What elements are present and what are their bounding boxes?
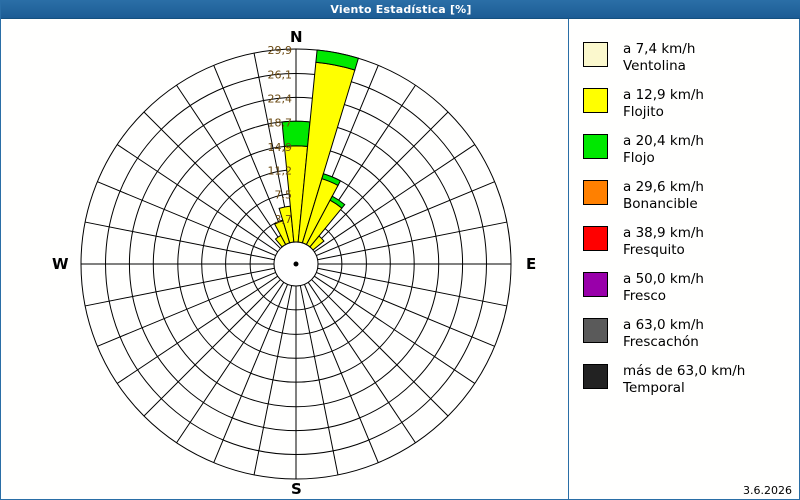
windrose-plot-panel: 3,77,511,214,918,722,426,129,9 N E S W [2, 19, 566, 499]
centre-hole [274, 242, 318, 286]
legend-item[interactable]: a 38,9 km/hFresquito [583, 225, 704, 259]
grid-spoke-7 [318, 222, 507, 260]
legend-item-text: a 29,6 km/hBonancible [623, 179, 704, 213]
legend-item-text: a 50,0 km/hFresco [623, 271, 704, 305]
legend-color-swatch [583, 364, 608, 389]
legend-item-name: Flojo [623, 150, 704, 167]
centre-dot [294, 262, 299, 267]
legend-item[interactable]: a 12,9 km/hFlojito [583, 87, 704, 121]
radial-tick-label-6: 26,1 [268, 69, 293, 82]
legend-panel: a 7,4 km/hVentolinaa 12,9 km/hFlojitoa 2… [568, 19, 799, 499]
legend-item-name: Frescachón [623, 334, 704, 351]
legend-item[interactable]: a 20,4 km/hFlojo [583, 133, 704, 167]
legend-item-speed: a 29,6 km/h [623, 179, 704, 195]
legend-item[interactable]: a 63,0 km/hFrescachón [583, 317, 704, 351]
legend-color-swatch [583, 272, 608, 297]
legend-item-speed: a 20,4 km/h [623, 133, 704, 149]
compass-label-north: N [290, 30, 303, 45]
grid-spoke-9 [318, 268, 507, 306]
grid-spoke-12 [312, 280, 448, 416]
legend-item-name: Bonancible [623, 196, 704, 213]
legend-item-text: a 63,0 km/hFrescachón [623, 317, 704, 351]
legend-color-swatch [583, 134, 608, 159]
legend-item-speed: más de 63,0 km/h [623, 363, 745, 379]
legend-item-speed: a 63,0 km/h [623, 317, 704, 333]
legend-item[interactable]: a 50,0 km/hFresco [583, 271, 704, 305]
legend-item-speed: a 7,4 km/h [623, 41, 695, 57]
legend-color-swatch [583, 180, 608, 205]
grid-spoke-17 [254, 286, 292, 475]
legend-item-text: a 12,9 km/hFlojito [623, 87, 704, 121]
legend-item[interactable]: más de 63,0 km/hTemporal [583, 363, 745, 397]
radial-tick-label-1: 7,5 [275, 189, 293, 202]
grid-spoke-28 [144, 112, 280, 248]
compass-label-west: W [52, 257, 69, 272]
legend-item-speed: a 12,9 km/h [623, 87, 704, 103]
grid-spoke-20 [144, 280, 280, 416]
grid-spoke-25 [85, 222, 274, 260]
grid-spoke-15 [300, 286, 338, 475]
legend-color-swatch [583, 42, 608, 67]
legend-item-name: Flojito [623, 104, 704, 121]
legend-item-name: Fresquito [623, 242, 704, 259]
radial-tick-label-7: 29,9 [268, 44, 293, 57]
windrose-chart: 3,77,511,214,918,722,426,129,9 [2, 19, 566, 499]
wind-statistics-window: Viento Estadística [%] 3,77,511,214,918,… [0, 0, 800, 500]
radial-tick-label-4: 18,7 [268, 116, 293, 129]
legend-item-name: Ventolina [623, 58, 695, 75]
legend-item-name: Temporal [623, 380, 745, 397]
legend-item-speed: a 38,9 km/h [623, 225, 704, 241]
radial-tick-label-5: 22,4 [268, 92, 293, 105]
legend-item-text: a 20,4 km/hFlojo [623, 133, 704, 167]
radial-tick-label-2: 11,2 [268, 165, 293, 178]
legend-color-swatch [583, 88, 608, 113]
radial-tick-label-0: 3,7 [275, 213, 293, 226]
legend-item-text: a 38,9 km/hFresquito [623, 225, 704, 259]
radial-tick-label-3: 14,9 [268, 141, 293, 154]
window-title: Viento Estadística [%] [330, 4, 471, 15]
legend-item[interactable]: a 7,4 km/hVentolina [583, 41, 695, 75]
legend-color-swatch [583, 318, 608, 343]
legend-item[interactable]: a 29,6 km/hBonancible [583, 179, 704, 213]
compass-label-east: E [526, 257, 536, 272]
grid-spoke-23 [85, 268, 274, 306]
legend-item-name: Fresco [623, 288, 704, 305]
compass-label-south: S [291, 482, 302, 497]
legend-item-speed: a 50,0 km/h [623, 271, 704, 287]
legend-item-text: a 7,4 km/hVentolina [623, 41, 695, 75]
date-stamp: 3.6.2026 [743, 485, 792, 496]
window-titlebar: Viento Estadística [%] [1, 1, 800, 19]
legend-item-text: más de 63,0 km/hTemporal [623, 363, 745, 397]
legend-color-swatch [583, 226, 608, 251]
